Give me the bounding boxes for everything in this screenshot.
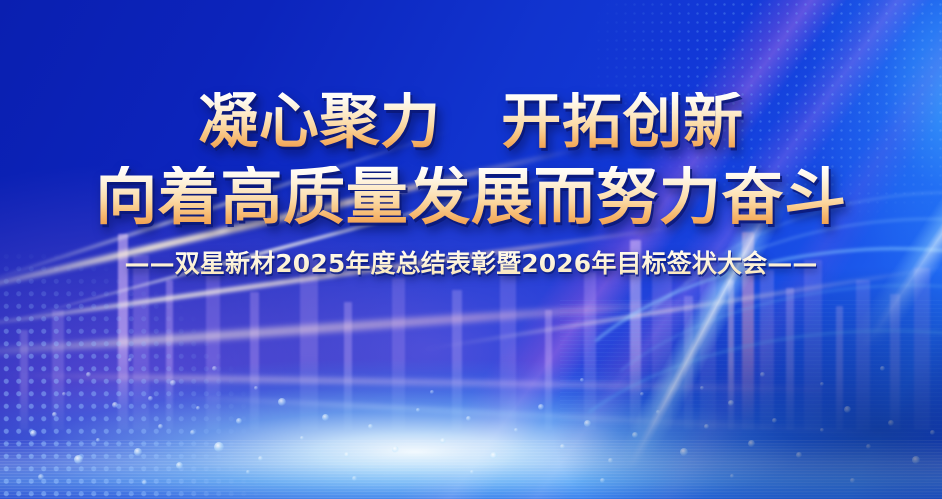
banner-title-line-2: 向着高质量发展而努力奋斗 bbox=[95, 166, 846, 228]
banner-subtitle: ——双星新材2025年度总结表彰暨2026年目标签状大会—— bbox=[125, 244, 818, 280]
banner-content: 凝心聚力 开拓创新 向着高质量发展而努力奋斗 ——双星新材2025年度总结表彰暨… bbox=[0, 0, 942, 499]
conference-banner: 凝心聚力 开拓创新 向着高质量发展而努力奋斗 ——双星新材2025年度总结表彰暨… bbox=[0, 0, 942, 499]
banner-title-line-1: 凝心聚力 开拓创新 bbox=[198, 92, 743, 152]
